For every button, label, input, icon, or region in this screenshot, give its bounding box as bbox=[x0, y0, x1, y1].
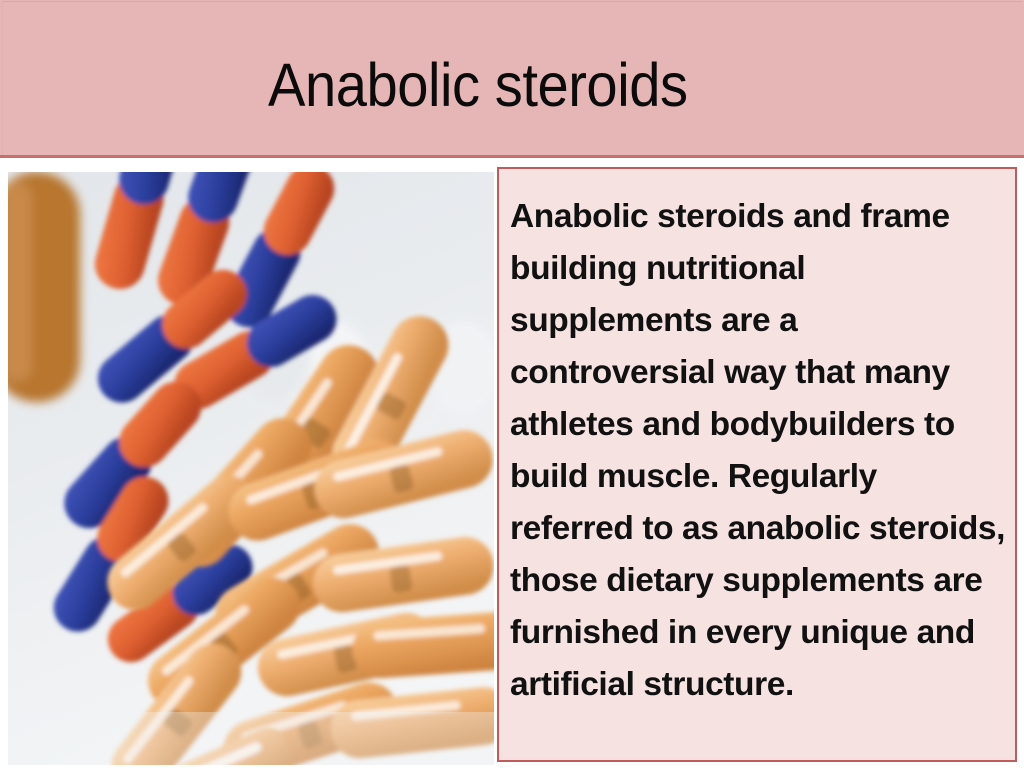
title-band: Anabolic steroids bbox=[0, 0, 1024, 158]
body-paragraph: Anabolic steroids and frame building nut… bbox=[499, 169, 1015, 711]
pills-photo bbox=[8, 172, 494, 765]
page-title: Anabolic steroids bbox=[268, 55, 688, 116]
slide: Anabolic steroids bbox=[0, 0, 1024, 768]
content-text-box: Anabolic steroids and frame building nut… bbox=[497, 167, 1017, 762]
pills-photo-illustration bbox=[8, 172, 494, 765]
